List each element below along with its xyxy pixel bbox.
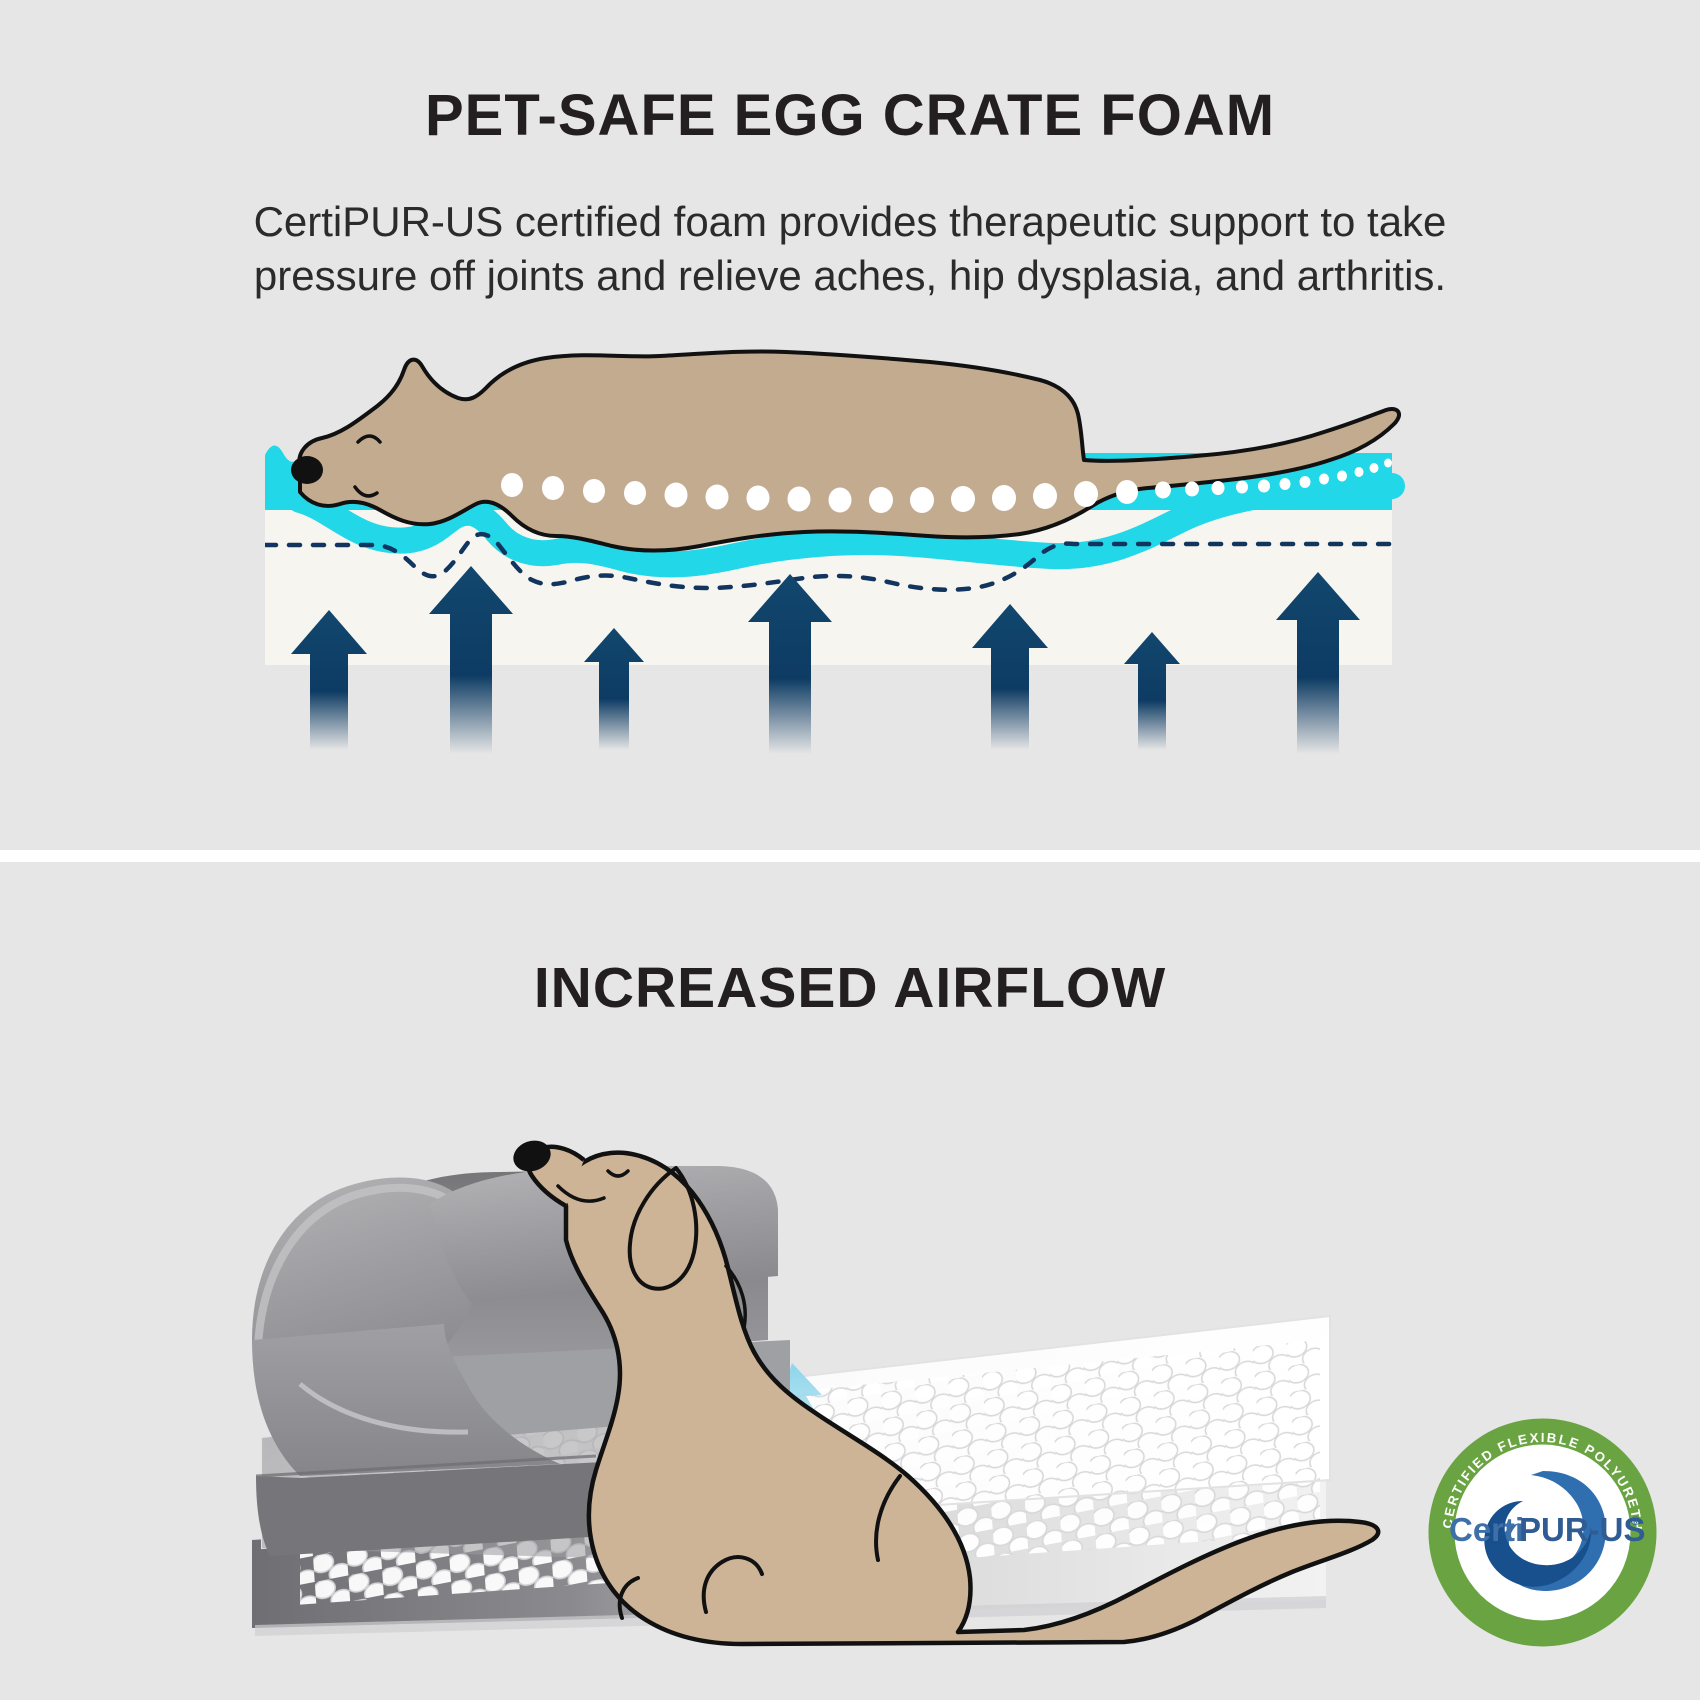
badge-registered-mark: ®	[1631, 1514, 1640, 1528]
section-divider	[0, 850, 1700, 862]
section-pet-safe-egg-crate-foam: PET-SAFE EGG CRATE FOAM CertiPUR-US cert…	[0, 0, 1700, 850]
infographic-page: PET-SAFE EGG CRATE FOAM CertiPUR-US cert…	[0, 0, 1700, 1700]
section-title-1: PET-SAFE EGG CRATE FOAM	[0, 82, 1700, 149]
section-title-2: INCREASED AIRFLOW	[0, 955, 1700, 1021]
subtitle-line-1: CertiPUR-US certified foam provides ther…	[50, 195, 1650, 249]
cross-section-illustration	[0, 340, 1700, 770]
badge-center-text: Certi PUR-US ®	[1449, 1511, 1646, 1548]
dog-nose	[291, 456, 323, 484]
badge-center-text-1: Certi	[1449, 1511, 1524, 1548]
certipur-us-badge: CONTAINS CERTIFIED FLEXIBLE POLYURETHANE…	[1425, 1415, 1660, 1650]
badge-center-text-2: PUR-US	[1519, 1511, 1646, 1548]
section-subtitle-1: CertiPUR-US certified foam provides ther…	[50, 195, 1650, 303]
subtitle-line-2: pressure off joints and relieve aches, h…	[50, 249, 1650, 303]
